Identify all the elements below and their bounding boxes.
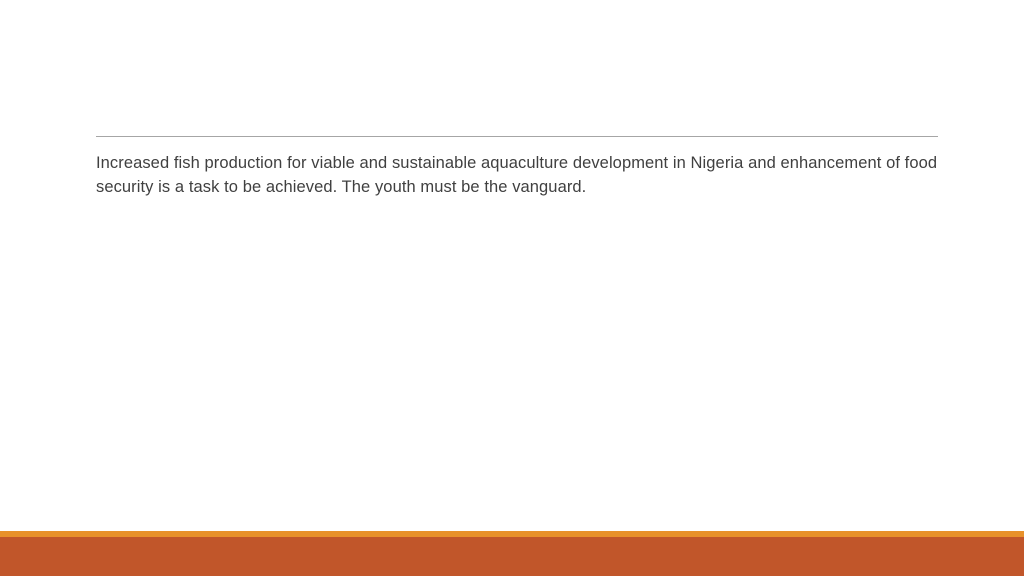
footer-main-band (0, 537, 1024, 576)
footer-banner (0, 531, 1024, 576)
slide-canvas: Increased fish production for viable and… (0, 0, 1024, 576)
horizontal-rule-divider (96, 136, 938, 137)
content-placeholder[interactable]: Increased fish production for viable and… (96, 136, 938, 199)
body-paragraph[interactable]: Increased fish production for viable and… (96, 151, 938, 199)
